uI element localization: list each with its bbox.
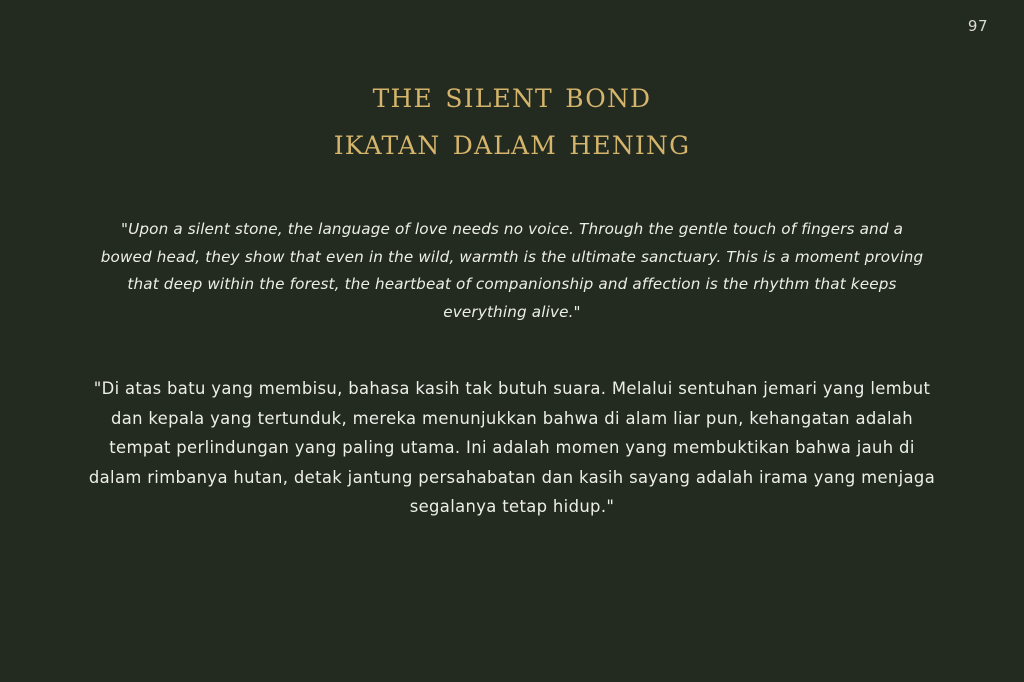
- paragraph-indonesian: "Di atas batu yang membisu, bahasa kasih…: [85, 374, 939, 522]
- page-number: 97: [968, 19, 988, 34]
- page-title-secondary: Ikatan dalam Hening: [0, 120, 1024, 166]
- title-block: The Silent Bond Ikatan dalam Hening: [0, 74, 1024, 166]
- page-title-primary: The Silent Bond: [0, 74, 1024, 118]
- slide-canvas: 97 The Silent Bond Ikatan dalam Hening "…: [0, 0, 1024, 682]
- paragraph-english: "Upon a silent stone, the language of lo…: [93, 216, 931, 326]
